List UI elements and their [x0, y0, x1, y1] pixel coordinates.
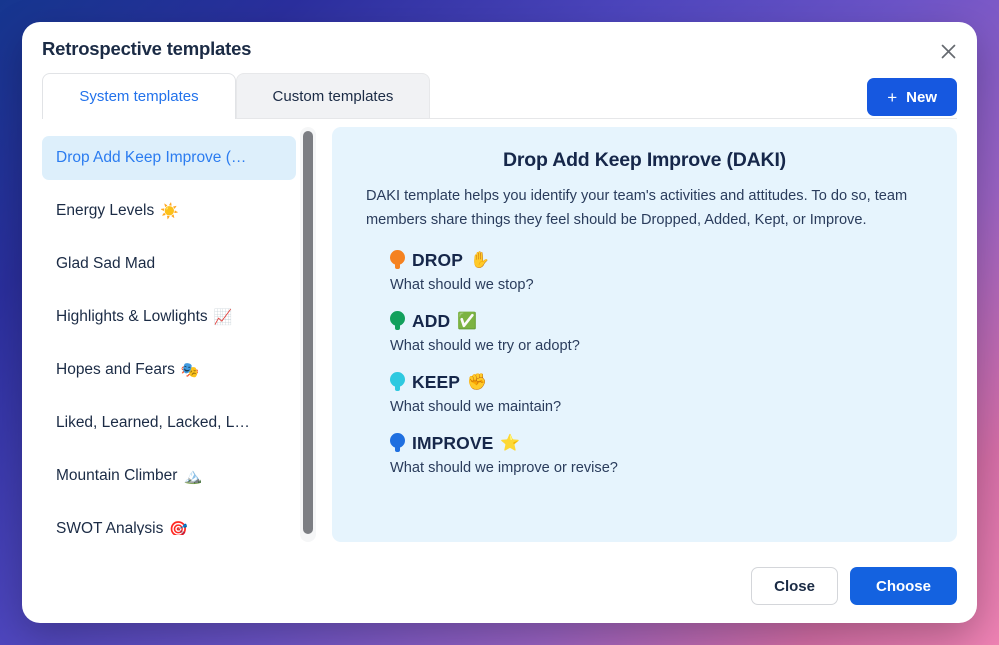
lightbulb-icon: [390, 433, 405, 454]
lightbulb-icon: [390, 250, 405, 271]
template-list-item-glad-sad-mad[interactable]: Glad Sad Mad: [42, 242, 296, 286]
section-question: What should we improve or revise?: [366, 460, 923, 476]
section-name: DROP: [412, 250, 463, 271]
template-list-item-mountain-climber[interactable]: Mountain Climber 🏔️: [42, 454, 296, 498]
scrollbar-thumb[interactable]: [303, 131, 313, 534]
template-list-item-highlights-lowlights[interactable]: Highlights & Lowlights 📈: [42, 295, 296, 339]
close-glyph: [939, 42, 958, 61]
check-mark-icon: ✅: [457, 314, 477, 330]
tab-custom-templates-label: Custom templates: [273, 88, 394, 105]
tab-custom-templates[interactable]: Custom templates: [236, 73, 430, 119]
raised-fist-icon: ✊: [467, 375, 487, 391]
star-icon: ⭐: [500, 436, 520, 452]
dialog-footer: Close Choose: [42, 565, 957, 607]
close-icon[interactable]: [933, 36, 963, 66]
preview-description: DAKI template helps you identify your te…: [366, 185, 923, 232]
template-list-item-swot-analysis[interactable]: SWOT Analysis 🎯: [42, 507, 296, 535]
template-list-scrollbar[interactable]: [300, 127, 316, 542]
plus-icon: +: [887, 89, 897, 106]
lightbulb-icon: [390, 311, 405, 332]
target-icon: 🎯: [169, 522, 188, 536]
template-label: Hopes and Fears: [56, 361, 175, 379]
template-label: Glad Sad Mad: [56, 255, 155, 273]
preview-title: Drop Add Keep Improve (DAKI): [366, 149, 923, 172]
preview-section-improve: IMPROVE ⭐ What should we improve or revi…: [366, 433, 923, 476]
sun-icon: ☀️: [160, 204, 179, 219]
section-heading: KEEP ✊: [366, 372, 923, 393]
template-list-item-liked-learned-lacked[interactable]: Liked, Learned, Lacked, L…: [42, 401, 296, 445]
template-label: SWOT Analysis: [56, 520, 163, 535]
preview-section-keep: KEEP ✊ What should we maintain?: [366, 372, 923, 415]
tab-system-templates-label: System templates: [79, 88, 198, 105]
retrospective-templates-dialog: Retrospective templates System templates…: [22, 22, 977, 623]
section-heading: ADD ✅: [366, 311, 923, 332]
template-label: Drop Add Keep Improve (…: [56, 149, 246, 167]
section-question: What should we maintain?: [366, 399, 923, 415]
new-template-button[interactable]: + New: [867, 78, 957, 116]
section-name: IMPROVE: [412, 433, 493, 454]
chart-increasing-icon: 📈: [214, 310, 233, 325]
section-name: KEEP: [412, 372, 460, 393]
template-preview-panel: Drop Add Keep Improve (DAKI) DAKI templa…: [332, 127, 957, 542]
template-list: Drop Add Keep Improve (… Energy Levels ☀…: [42, 136, 296, 535]
tab-system-templates[interactable]: System templates: [42, 73, 236, 119]
preview-section-drop: DROP ✋ What should we stop?: [366, 250, 923, 293]
lightbulb-icon: [390, 372, 405, 393]
dialog-title: Retrospective templates: [42, 38, 251, 60]
template-label: Liked, Learned, Lacked, L…: [56, 414, 250, 432]
template-label: Energy Levels: [56, 202, 154, 220]
template-label: Mountain Climber: [56, 467, 177, 485]
dialog-body: Drop Add Keep Improve (… Energy Levels ☀…: [42, 119, 957, 545]
new-button-label: New: [906, 89, 937, 106]
section-name: ADD: [412, 311, 450, 332]
section-question: What should we try or adopt?: [366, 338, 923, 354]
raised-hand-icon: ✋: [470, 253, 490, 269]
template-list-item-daki[interactable]: Drop Add Keep Improve (…: [42, 136, 296, 180]
close-button[interactable]: Close: [751, 567, 838, 605]
template-list-item-hopes-and-fears[interactable]: Hopes and Fears 🎭: [42, 348, 296, 392]
template-list-item-energy-levels[interactable]: Energy Levels ☀️: [42, 189, 296, 233]
mountain-icon: 🏔️: [183, 469, 202, 484]
section-heading: IMPROVE ⭐: [366, 433, 923, 454]
preview-section-add: ADD ✅ What should we try or adopt?: [366, 311, 923, 354]
tab-bar: System templates Custom templates: [42, 73, 957, 119]
section-question: What should we stop?: [366, 277, 923, 293]
template-label: Highlights & Lowlights: [56, 308, 208, 326]
choose-button[interactable]: Choose: [850, 567, 957, 605]
performing-arts-icon: 🎭: [181, 363, 200, 378]
section-heading: DROP ✋: [366, 250, 923, 271]
